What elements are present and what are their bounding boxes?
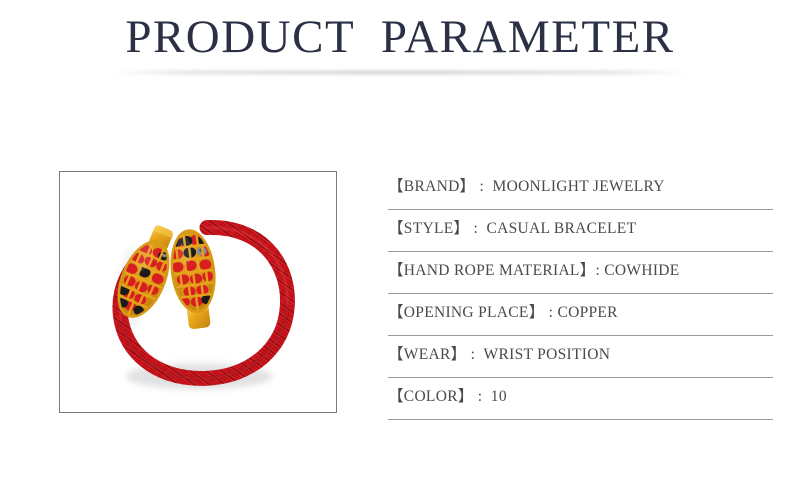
product-image-frame	[59, 171, 337, 413]
parameter-style-text: 【STYLE】 : CASUAL BRACELET	[388, 219, 636, 242]
snake-head-right	[166, 226, 222, 331]
page-title: PRODUCT PARAMETER	[0, 11, 800, 63]
product-image-snake-bracelet	[60, 172, 336, 412]
parameter-hand-rope-material-text: 【HAND ROPE MATERIAL】: COWHIDE	[388, 261, 680, 284]
parameter-row-brand: 【BRAND】 : MOONLIGHT JEWELRY	[388, 168, 773, 210]
parameter-color-text: 【COLOR】 : 10	[388, 387, 507, 410]
title-shadow-divider	[110, 70, 690, 75]
parameter-wear-text: 【WEAR】 : WRIST POSITION	[388, 345, 610, 368]
product-parameter-list: 【BRAND】 : MOONLIGHT JEWELRY 【STYLE】 : CA…	[388, 168, 773, 420]
parameter-row-wear: 【WEAR】 : WRIST POSITION	[388, 336, 773, 378]
parameter-row-style: 【STYLE】 : CASUAL BRACELET	[388, 210, 773, 252]
page-header: PRODUCT PARAMETER	[0, 0, 800, 82]
parameter-brand-text: 【BRAND】 : MOONLIGHT JEWELRY	[388, 177, 665, 200]
parameter-row-opening-place: 【OPENING PLACE】 : COPPER	[388, 294, 773, 336]
parameter-row-color: 【COLOR】 : 10	[388, 378, 773, 420]
parameter-row-hand-rope-material: 【HAND ROPE MATERIAL】: COWHIDE	[388, 252, 773, 294]
parameter-opening-place-text: 【OPENING PLACE】 : COPPER	[388, 303, 618, 326]
